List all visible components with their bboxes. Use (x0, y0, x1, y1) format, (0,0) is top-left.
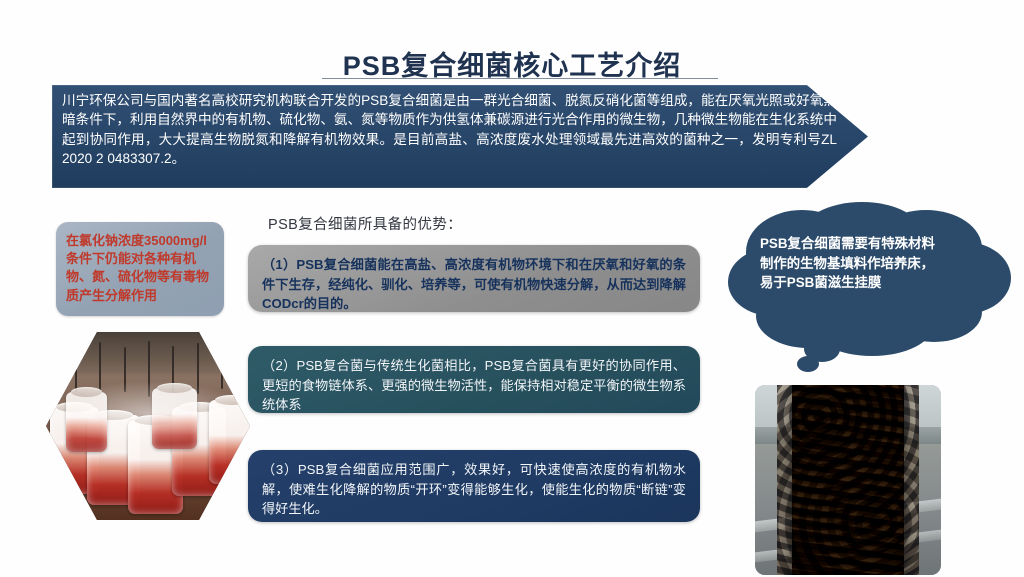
intro-banner: 川宁环保公司与国内著名高校研究机构联合开发的PSB复合细菌是由一群光合细菌、脱氮… (52, 85, 868, 188)
photo-fermenters (46, 332, 250, 520)
thought-cloud-callout: PSB复合细菌需要有特殊材料制作的生物基填料作培养床，易于PSB菌滋生挂膜 (712, 200, 1024, 382)
advantage-box-3: （3）PSB复合细菌应用范围广，效果好，可快速使高浓度的有机物水解，使难生化降解… (248, 450, 700, 522)
thought-cloud-text: PSB复合细菌需要有特殊材料制作的生物基填料作培养床，易于PSB菌滋生挂膜 (760, 234, 946, 293)
banner-text: 川宁环保公司与国内著名高校研究机构联合开发的PSB复合细菌是由一群光合细菌、脱氮… (62, 91, 837, 168)
slide-root: PSB复合细菌核心工艺介绍 川宁环保公司与国内著名高校研究机构联合开发的PSB复… (0, 0, 1024, 577)
advantage-2-text: （2）PSB复合菌与传统生化菌相比，PSB复合菌具有更好的协同作用、更短的食物链… (262, 356, 686, 415)
photo-fermenters-content (46, 332, 250, 520)
salt-concentration-callout: 在氯化钠浓度35000mg/l条件下仍能对各种有机物、氮、硫化物等有毒物质产生分… (56, 222, 224, 316)
advantages-heading: PSB复合细菌所具备的优势： (268, 213, 462, 234)
advantage-3-text: （3）PSB复合细菌应用范围广，效果好，可快速使高浓度的有机物水解，使难生化降解… (262, 460, 686, 519)
advantage-box-1: （1）PSB复合细菌能在高盐、高浓度有机物环境下和在厌氧和好氧的条件下生存，经纯… (248, 245, 700, 312)
advantage-1-text: （1）PSB复合细菌能在高盐、高浓度有机物环境下和在厌氧和好氧的条件下生存，经纯… (262, 255, 686, 314)
salt-concentration-text: 在氯化钠浓度35000mg/l条件下仍能对各种有机物、氮、硫化物等有毒物质产生分… (66, 232, 216, 305)
photo-biofilm-media (755, 385, 941, 575)
advantage-box-2: （2）PSB复合菌与传统生化菌相比，PSB复合菌具有更好的协同作用、更短的食物链… (248, 346, 700, 413)
title-underline (322, 78, 718, 79)
